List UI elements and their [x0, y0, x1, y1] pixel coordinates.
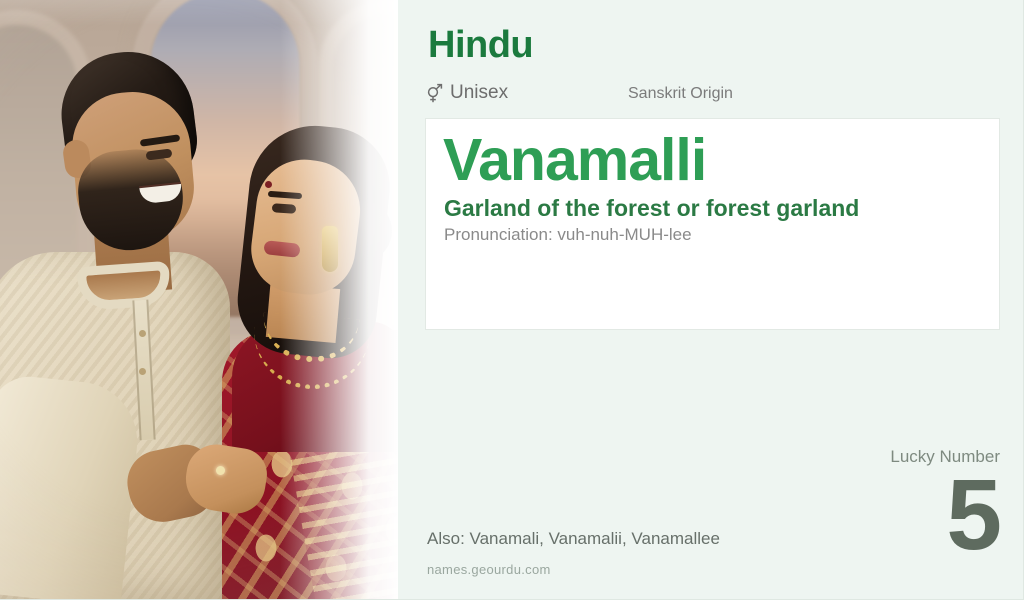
woman-bindi: [265, 181, 272, 188]
unisex-gender-icon: [426, 83, 443, 103]
name-title: Vanamalli: [443, 128, 706, 193]
name-pronunciation: Pronunciation: vuh-nuh-MUH-lee: [444, 225, 692, 245]
name-meta-row: Unisex Sanskrit Origin: [426, 82, 986, 106]
name-card: Vanamalli Garland of the forest or fores…: [425, 118, 1000, 330]
woman-jhumka-earring: [322, 226, 338, 272]
name-detail-card: Hindu Unisex Sanskrit Ori: [0, 0, 1024, 600]
name-meaning: Garland of the forest or forest garland: [444, 195, 859, 223]
gender-indicator: Unisex: [426, 82, 508, 104]
man-button-upper: [139, 330, 146, 337]
details-panel: Hindu Unisex Sanskrit Ori: [398, 0, 1024, 600]
alternate-spellings: Also: Vanamali, Vanamalii, Vanamallee: [427, 529, 720, 549]
man-button-lower: [139, 368, 146, 375]
religion-title: Hindu: [428, 26, 533, 64]
couple-photo: [0, 0, 400, 600]
gender-label: Unisex: [450, 82, 508, 104]
origin-label: Sanskrit Origin: [628, 85, 733, 103]
lucky-number-value: 5: [780, 469, 1000, 561]
photo-background: [0, 0, 400, 600]
man-arm: [0, 373, 143, 600]
woman-eye: [272, 203, 297, 214]
lucky-number-block: Lucky Number 5: [780, 448, 1000, 561]
source-watermark: names.geourdu.com: [427, 562, 551, 577]
ring-icon: [216, 466, 225, 475]
